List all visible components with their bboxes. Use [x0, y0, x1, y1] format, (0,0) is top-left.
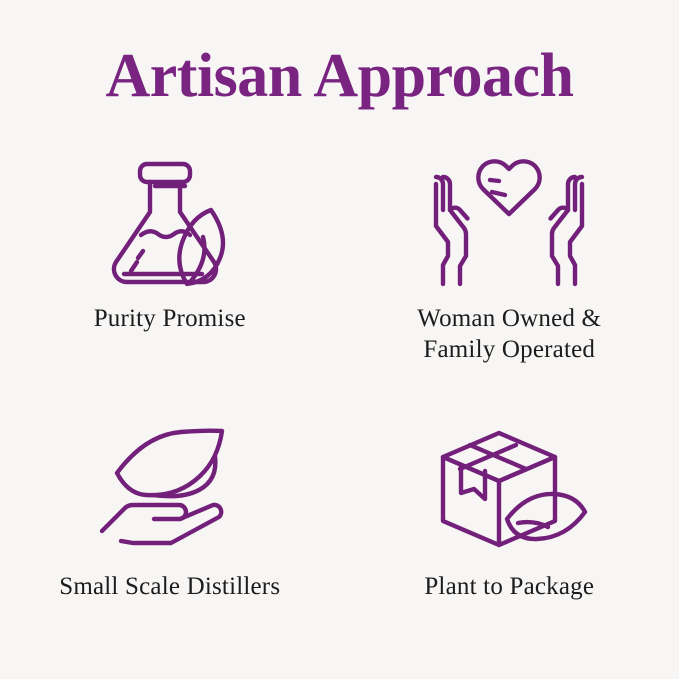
- feature-item-purity-promise: Purity Promise: [0, 150, 340, 400]
- hands-heart-icon: [424, 150, 594, 290]
- feature-item-small-scale: Small Scale Distillers: [0, 400, 340, 650]
- leaf-in-hand-icon: [100, 422, 240, 550]
- feature-label-purity-promise: Purity Promise: [94, 304, 246, 335]
- flask-leaf-icon: [100, 150, 240, 290]
- feature-label-woman-owned: Woman Owned & Family Operated: [417, 304, 601, 365]
- feature-item-plant-to-package: Plant to Package: [340, 400, 679, 650]
- box-leaf-icon: [433, 422, 585, 550]
- feature-label-small-scale: Small Scale Distillers: [59, 572, 280, 603]
- artisan-approach-graphic: Artisan Approach: [0, 0, 679, 679]
- feature-item-woman-owned: Woman Owned & Family Operated: [340, 150, 679, 400]
- page-title: Artisan Approach: [0, 44, 679, 109]
- feature-grid: Purity Promise: [0, 150, 679, 650]
- feature-label-plant-to-package: Plant to Package: [424, 572, 594, 603]
